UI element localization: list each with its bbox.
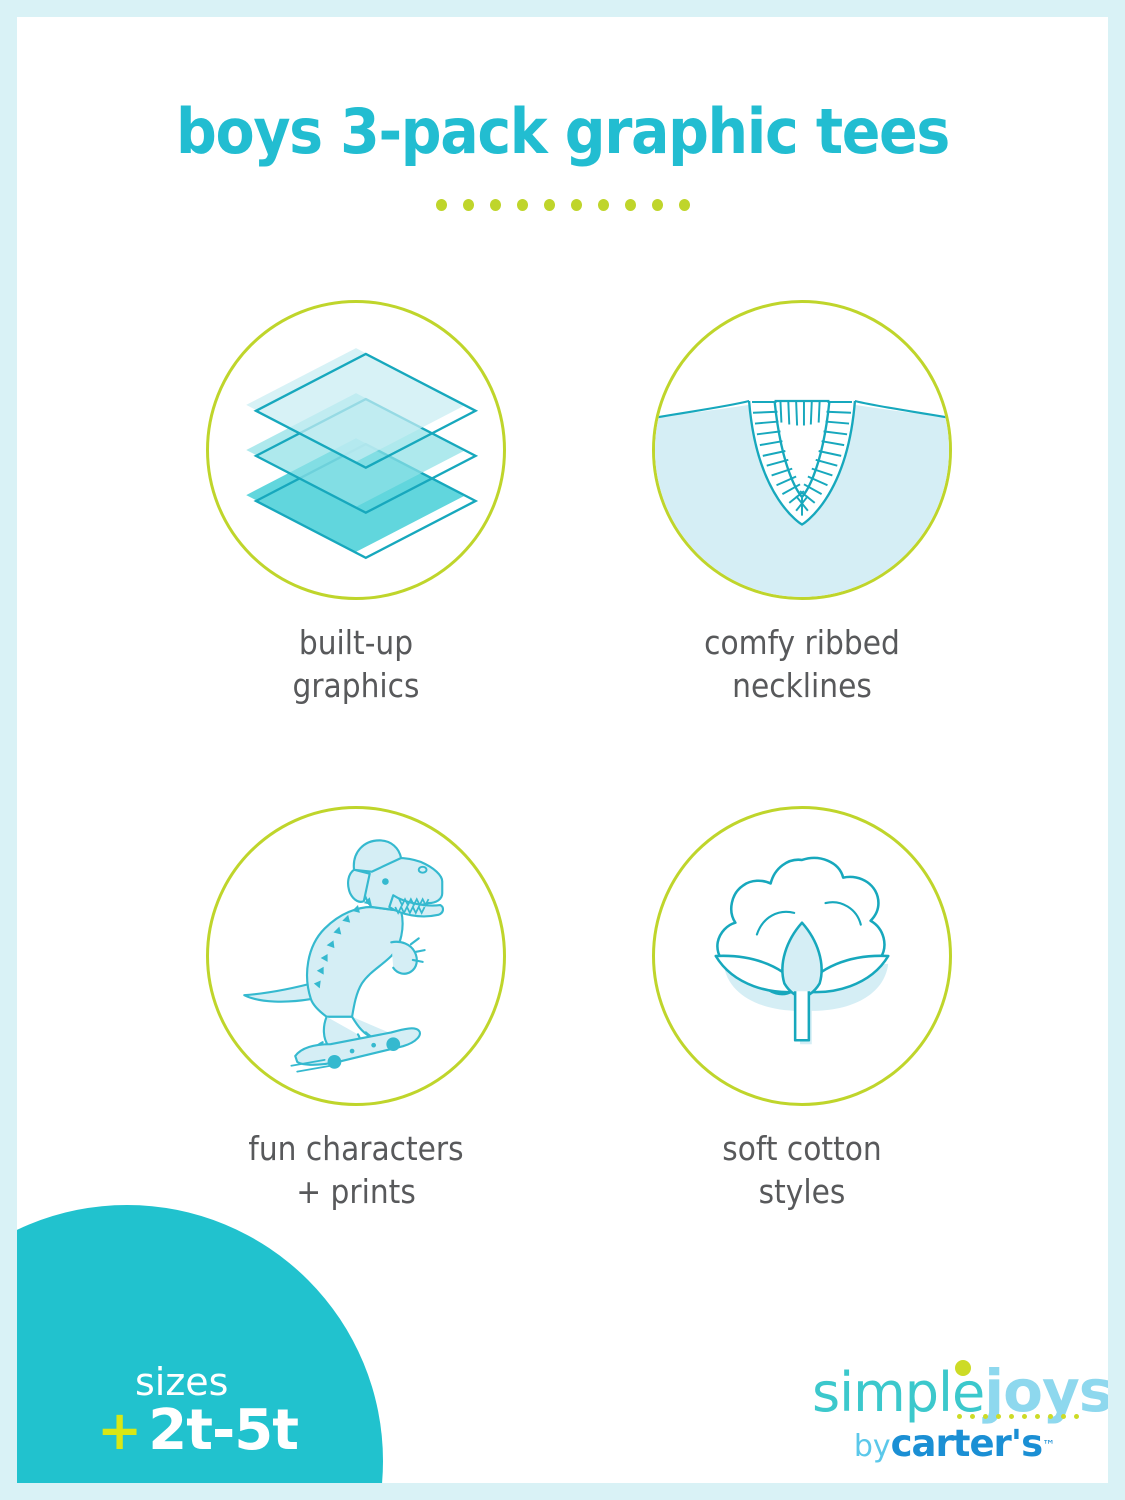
cotton-boll-icon — [655, 809, 949, 1103]
size-badge-range: 2t-5t — [148, 1403, 298, 1459]
divider-dot — [598, 199, 609, 211]
logo-dot — [1009, 1414, 1014, 1419]
logo-dot — [970, 1414, 975, 1419]
logo-dot — [1061, 1414, 1066, 1419]
plus-icon: + — [97, 1404, 142, 1458]
feature-icon-circle — [652, 806, 952, 1106]
feature-caption-line-1: fun characters — [203, 1128, 509, 1171]
feature-caption: built-up graphics — [203, 622, 509, 708]
poster-canvas: boys 3-pack graphic tees — [17, 17, 1108, 1483]
divider-dot — [517, 199, 528, 211]
logo-underline-dots — [957, 1414, 1079, 1419]
logo-j-dot-icon — [955, 1360, 971, 1376]
logo-dot — [1035, 1414, 1040, 1419]
product-infographic-poster: boys 3-pack graphic tees — [0, 0, 1125, 1500]
logo-dot — [996, 1414, 1001, 1419]
trademark-icon: ™ — [1042, 1439, 1055, 1454]
feature-soft-cotton-styles: soft cotton styles — [632, 806, 972, 1214]
feature-caption-line-1: built-up — [203, 622, 509, 665]
divider-dot — [625, 199, 636, 211]
feature-caption: soft cotton styles — [649, 1128, 955, 1214]
size-badge-range-row: + 2t-5t — [97, 1403, 347, 1459]
divider-dot — [490, 199, 501, 211]
logo-byline: bycarter's™ — [812, 1425, 1097, 1462]
feature-caption: comfy ribbed necklines — [649, 622, 955, 708]
divider-dot — [436, 199, 447, 211]
page-title: boys 3-pack graphic tees — [61, 95, 1065, 168]
feature-caption-line-2: styles — [649, 1171, 955, 1214]
feature-built-up-graphics: built-up graphics — [186, 300, 526, 708]
feature-caption-line-1: soft cotton — [649, 1128, 955, 1171]
feature-caption-line-2: graphics — [203, 665, 509, 708]
feature-icon-circle — [206, 300, 506, 600]
logo-dot — [1022, 1414, 1027, 1419]
brand-logo: simplejoys bycarter's™ — [812, 1362, 1097, 1462]
divider-dot — [679, 199, 690, 211]
feature-fun-characters-prints: fun characters + prints — [186, 806, 526, 1214]
feature-caption-line-1: comfy ribbed — [649, 622, 955, 665]
logo-dot — [983, 1414, 988, 1419]
dinosaur-skateboard-icon — [209, 809, 503, 1103]
logo-dot — [1074, 1414, 1079, 1419]
logo-brand-text: carter's — [891, 1422, 1043, 1465]
feature-caption: fun characters + prints — [203, 1128, 509, 1214]
feature-caption-line-2: + prints — [203, 1171, 509, 1214]
divider-dot — [463, 199, 474, 211]
feature-icon-circle — [652, 300, 952, 600]
ribbed-neckline-icon — [655, 303, 949, 597]
feature-comfy-ribbed-necklines: comfy ribbed necklines — [632, 300, 972, 708]
divider-dot — [544, 199, 555, 211]
logo-wordmark: simplejoys — [812, 1362, 1097, 1420]
title-dot-divider — [17, 199, 1108, 211]
feature-caption-line-2: necklines — [649, 665, 955, 708]
divider-dot — [571, 199, 582, 211]
logo-dot — [957, 1414, 962, 1419]
divider-dot — [652, 199, 663, 211]
logo-dot — [1048, 1414, 1053, 1419]
size-badge-label: sizes — [135, 1363, 347, 1401]
layers-icon — [209, 303, 503, 597]
feature-icon-circle — [206, 806, 506, 1106]
logo-by-text: by — [854, 1429, 891, 1464]
size-badge-text: sizes + 2t-5t — [97, 1363, 347, 1459]
size-badge: sizes + 2t-5t — [17, 1205, 383, 1483]
